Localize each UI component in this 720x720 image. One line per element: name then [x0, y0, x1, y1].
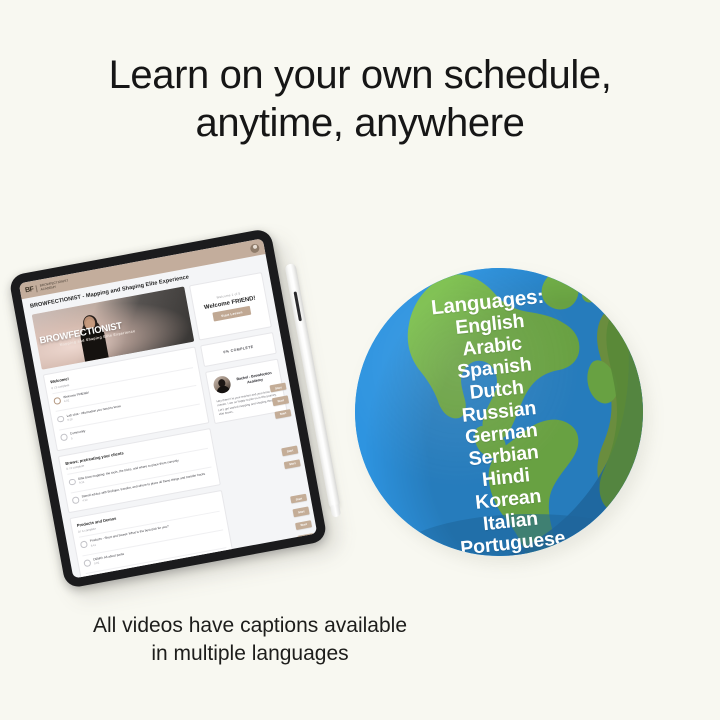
headline-line-1: Learn on your own schedule, [109, 53, 612, 97]
completion-label: 0% COMPLETE [223, 345, 254, 355]
start-badge[interactable]: Start [270, 383, 287, 393]
languages-list: Languages: English Arabic Spanish Dutch … [355, 268, 643, 556]
page-title: Learn on your own schedule, anytime, any… [0, 52, 720, 147]
lesson-status-icon [87, 578, 95, 579]
lesson-status-icon [53, 397, 61, 405]
start-badge[interactable]: Start [272, 396, 289, 406]
instructor-avatar [212, 375, 232, 395]
footer-caption: All videos have captions available in mu… [0, 612, 500, 667]
stylus-tip [330, 504, 341, 517]
lesson-status-icon [68, 478, 76, 486]
start-badge[interactable]: Start [291, 494, 308, 504]
tablet-screen[interactable]: BF BROWFECTIONIST ACADEMY BROWFECTIONIST… [19, 238, 318, 578]
lesson-status-icon [83, 559, 91, 567]
headline-line-2: anytime, anywhere [0, 100, 720, 148]
start-badge[interactable]: Start [275, 409, 292, 419]
logo-monogram: BF [25, 285, 38, 294]
lms-body: BROWFECTIONIST Mapping and Shaping Elite… [25, 271, 318, 579]
tablet-frame: BF BROWFECTIONIST ACADEMY BROWFECTIONIST… [8, 228, 327, 589]
lesson-status-icon [57, 415, 65, 423]
caption-line-2: in multiple languages [0, 640, 500, 668]
lesson-status-icon [60, 434, 68, 442]
globe-sphere: Languages: English Arabic Spanish Dutch … [355, 268, 643, 556]
lesson-status-icon [72, 496, 80, 504]
start-badge[interactable]: Start [282, 446, 299, 456]
start-badge[interactable]: Start [298, 533, 315, 543]
start-badge[interactable]: Start [295, 520, 312, 530]
start-badge[interactable]: Start [293, 507, 310, 517]
start-badge[interactable]: Start [284, 459, 301, 469]
logo-wordmark: BROWFECTIONIST ACADEMY [39, 278, 69, 291]
lesson-status-icon [80, 541, 88, 549]
globe-graphic: Languages: English Arabic Spanish Dutch … [355, 268, 643, 556]
caption-line-1: All videos have captions available [93, 614, 407, 637]
